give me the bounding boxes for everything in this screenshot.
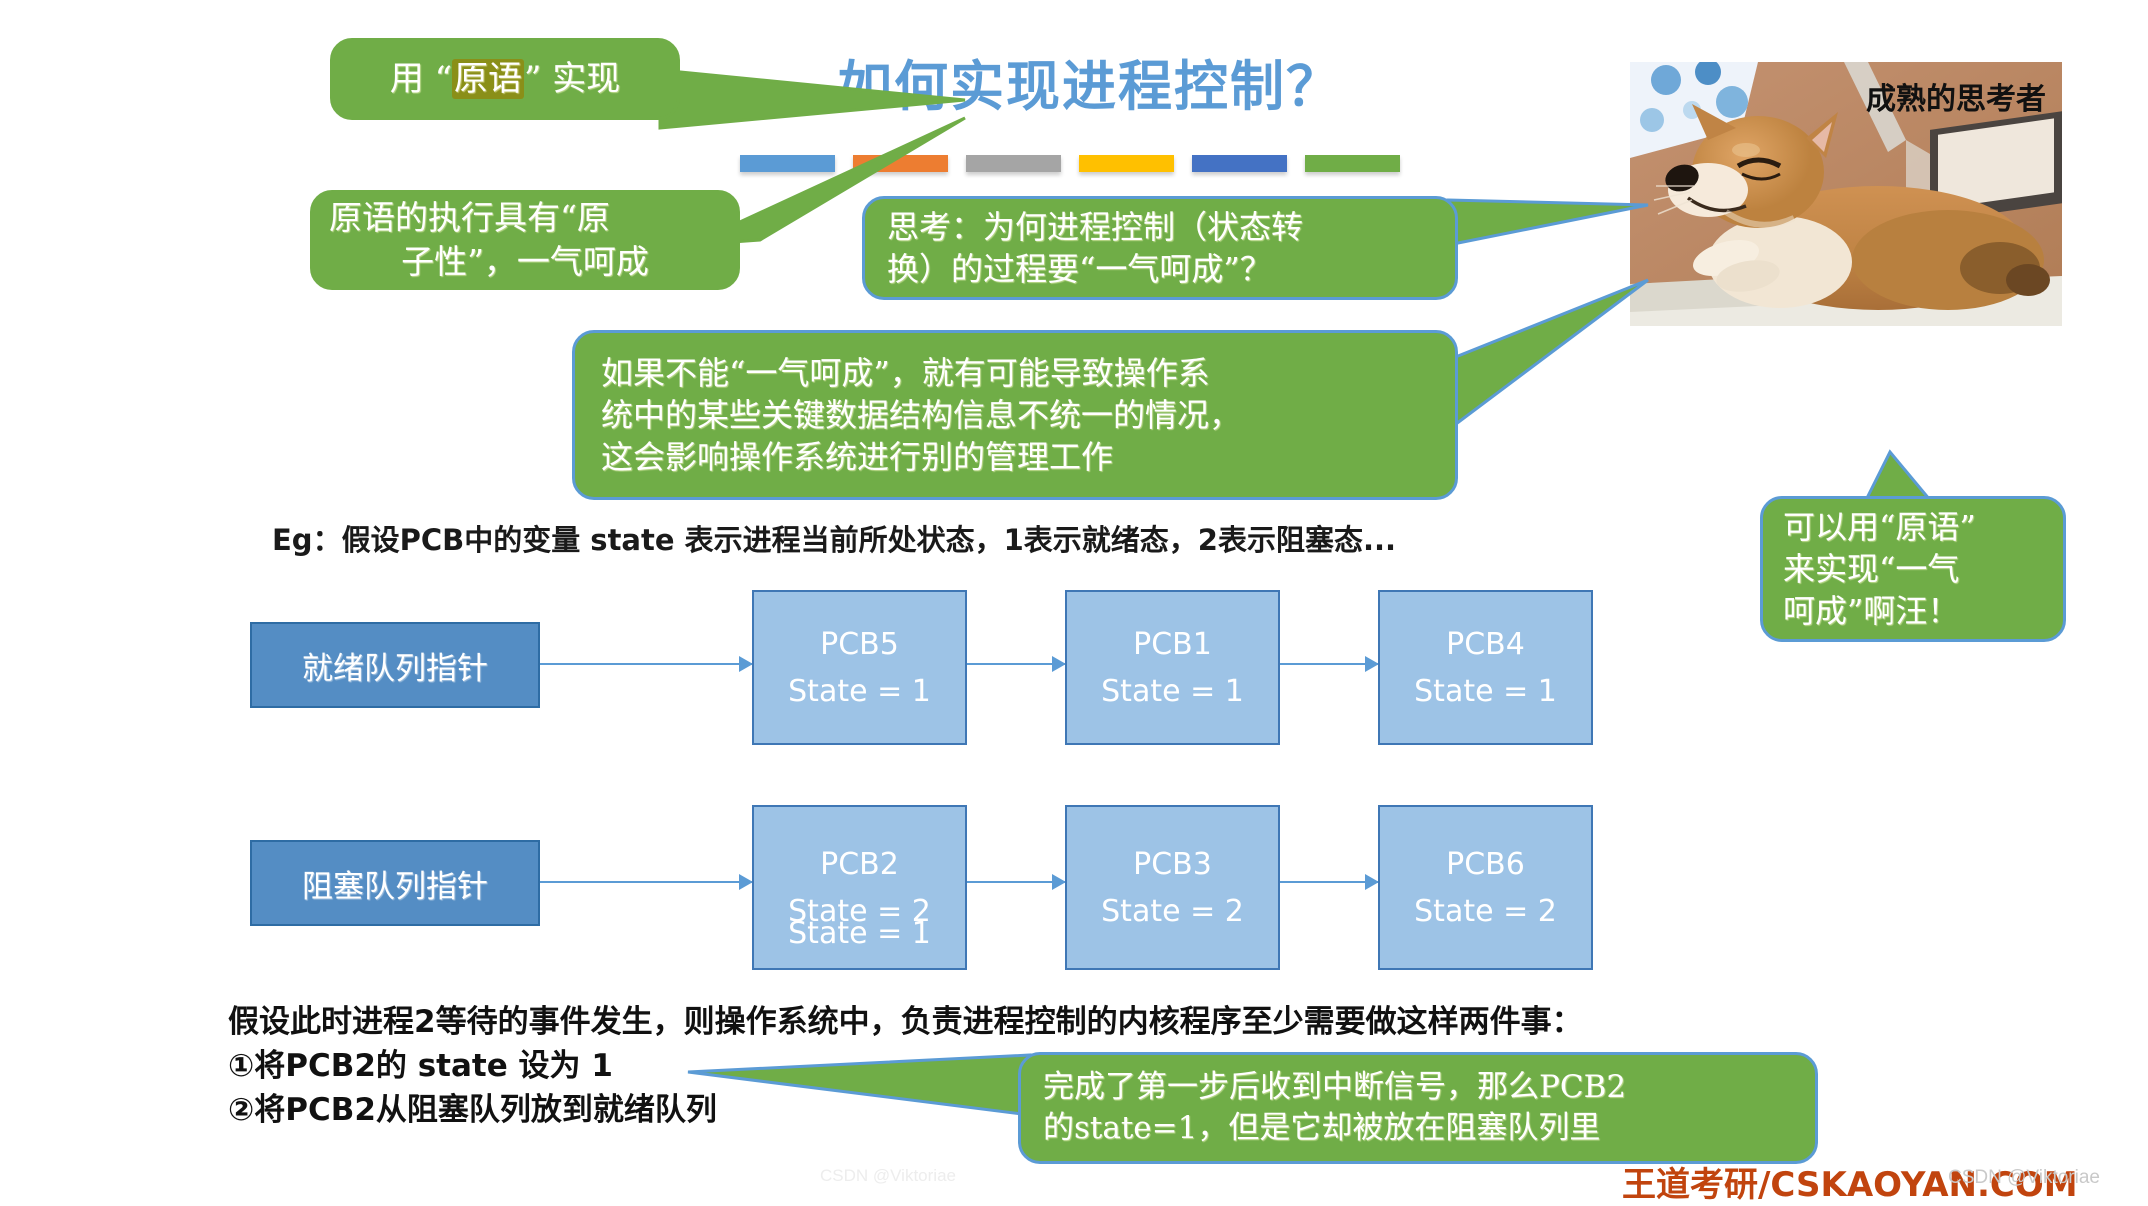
callout-dog-answer-line-1: 可以用“原语” [1783, 506, 1976, 548]
callout-dog-answer-line-2: 来实现“一气 [1783, 548, 1959, 590]
callout-dog-answer-line-3: 呵成”啊汪！ [1783, 590, 1959, 632]
callout-primitive[interactable]: 用 “原语” 实现 [330, 38, 680, 120]
slide-canvas: 如何实现进程控制？ 用 “原语” 实现 原语的执行具有“原 子性”，一气呵成 思… [0, 0, 2148, 1200]
callout-interrupt-line-2: 的state=1，但是它却被放在阻塞队列里 [1043, 1108, 1600, 1149]
callout-primitive-before: 用 “ [390, 59, 452, 99]
callout-atomicity-line-2: 子性”，一气呵成 [401, 240, 649, 284]
callout-interrupt-line-1: 完成了第一步后收到中断信号，那么PCB2 [1043, 1067, 1626, 1108]
callout-consequence-line-2: 统中的某些关键数据结构信息不统一的情况， [601, 394, 1241, 436]
callout-question-line-2: 换）的过程要“一气呵成”？ [887, 248, 1272, 290]
callout-consequence-line-1: 如果不能“一气呵成”，就有可能导致操作系 [601, 352, 1210, 394]
callout-question-line-1: 思考：为何进程控制（状态转 [887, 206, 1303, 248]
callout-atomicity-line-1: 原语的执行具有“原 [329, 196, 610, 240]
callout-atomicity[interactable]: 原语的执行具有“原 子性”，一气呵成 [310, 190, 740, 290]
callout-interrupt[interactable]: 完成了第一步后收到中断信号，那么PCB2 的state=1，但是它却被放在阻塞队… [1018, 1052, 1818, 1164]
callout-dog-answer[interactable]: 可以用“原语” 来实现“一气 呵成”啊汪！ [1760, 496, 2066, 642]
callout-primitive-highlight: 原语 [452, 59, 524, 99]
callout-primitive-after: ” 实现 [524, 59, 620, 99]
callout-question[interactable]: 思考：为何进程控制（状态转 换）的过程要“一气呵成”？ [862, 196, 1458, 300]
callout-consequence-line-3: 这会影响操作系统进行别的管理工作 [601, 436, 1113, 478]
callout-primitive-text: 用 “原语” 实现 [390, 57, 620, 102]
callout-consequence[interactable]: 如果不能“一气呵成”，就有可能导致操作系 统中的某些关键数据结构信息不统一的情况… [572, 330, 1458, 500]
